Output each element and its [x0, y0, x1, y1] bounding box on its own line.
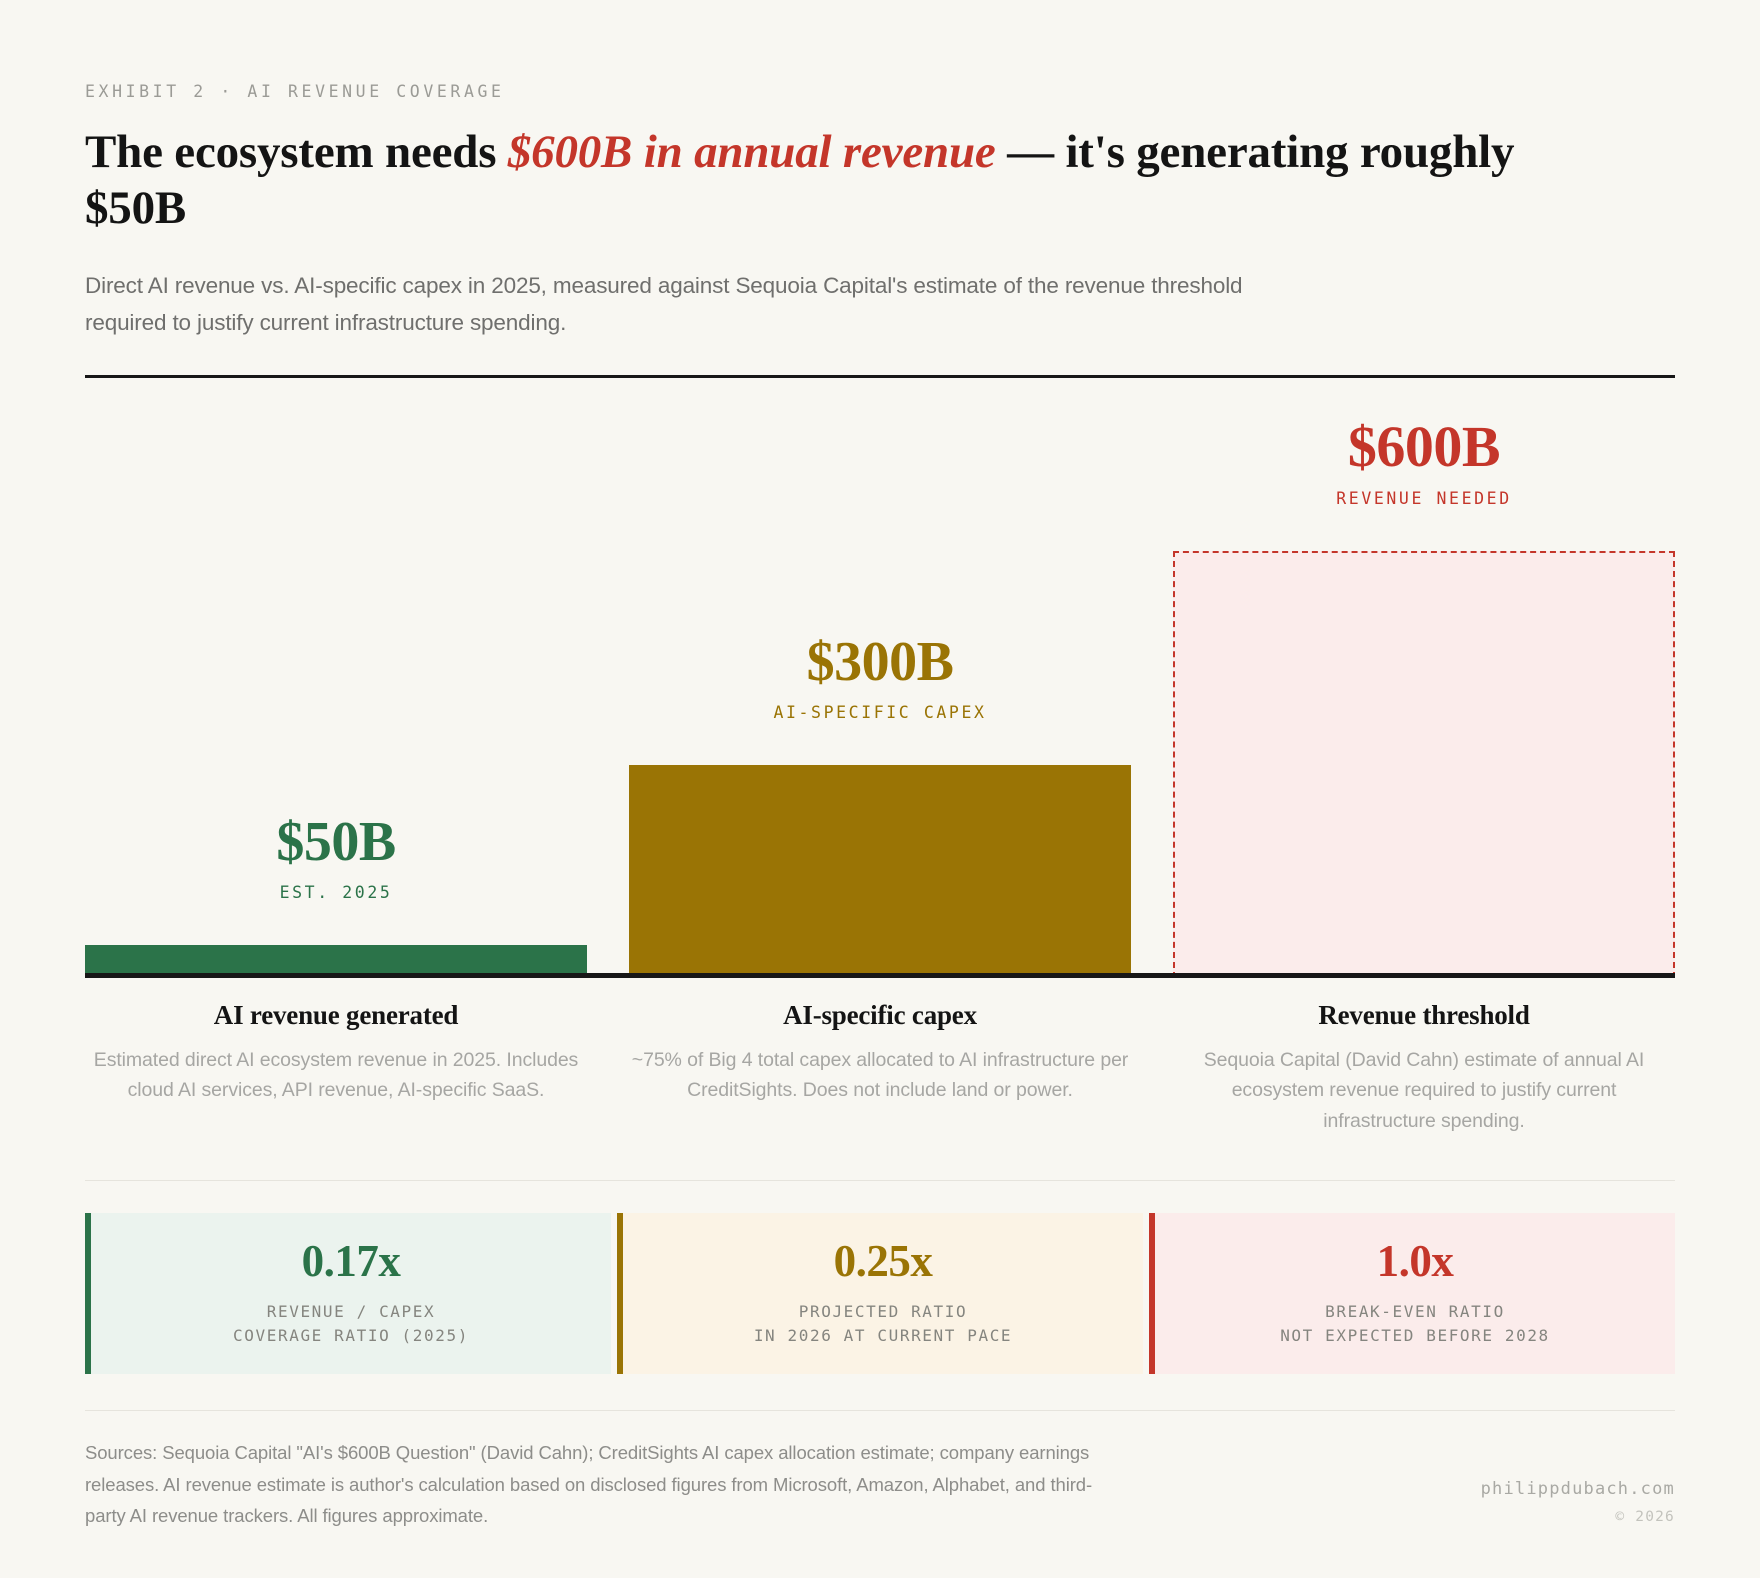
footer-divider [85, 1410, 1675, 1411]
bar-value-revenue: $50B [85, 814, 587, 870]
bar-rect-threshold [1173, 551, 1675, 978]
brand-block: philippdubach.com © 2026 [1481, 1437, 1675, 1525]
ratio-label-coverage: REVENUE / CAPEX COVERAGE RATIO (2025) [101, 1300, 601, 1348]
caption-title-revenue: AI revenue generated [85, 1000, 587, 1031]
bar-column-revenue: $50B EST. 2025 [85, 378, 587, 978]
exhibit-kicker: EXHIBIT 2 · AI REVENUE COVERAGE [85, 0, 1675, 101]
bar-value-threshold: $600B [1173, 418, 1675, 476]
page-subtitle: Direct AI revenue vs. AI-specific capex … [85, 268, 1255, 341]
bar-value-group-capex: $300B AI-SPECIFIC CAPEX [629, 634, 1131, 722]
bar-sublabel-capex: AI-SPECIFIC CAPEX [629, 703, 1131, 722]
bar-rect-capex [629, 765, 1131, 978]
bar-column-threshold: $600B REVENUE NEEDED [1173, 378, 1675, 978]
ratio-card-projected: 0.25x PROJECTED RATIO IN 2026 AT CURRENT… [617, 1213, 1143, 1374]
exhibit-page: EXHIBIT 2 · AI REVENUE COVERAGE The ecos… [0, 0, 1760, 1578]
copyright: © 2026 [1481, 1509, 1675, 1525]
bar-value-capex: $300B [629, 634, 1131, 690]
caption-threshold: Revenue threshold Sequoia Capital (David… [1173, 1000, 1675, 1136]
page-title: The ecosystem needs $600B in annual reve… [85, 125, 1615, 237]
ratio-label-breakeven: BREAK-EVEN RATIO NOT EXPECTED BEFORE 202… [1165, 1300, 1665, 1348]
bar-value-group-revenue: $50B EST. 2025 [85, 814, 587, 902]
caption-desc-threshold: Sequoia Capital (David Cahn) estimate of… [1173, 1045, 1675, 1136]
ratio-value-breakeven: 1.0x [1165, 1239, 1665, 1284]
chart-baseline [85, 973, 1675, 978]
bar-sublabel-threshold: REVENUE NEEDED [1173, 489, 1675, 508]
caption-title-threshold: Revenue threshold [1173, 1000, 1675, 1031]
caption-desc-revenue: Estimated direct AI ecosystem revenue in… [85, 1045, 587, 1105]
caption-desc-capex: ~75% of Big 4 total capex allocated to A… [629, 1045, 1131, 1105]
ratio-value-projected: 0.25x [633, 1239, 1133, 1284]
bar-columns: $50B EST. 2025 $300B AI-SPECIFIC CAPEX $… [85, 378, 1675, 978]
caption-revenue: AI revenue generated Estimated direct AI… [85, 1000, 587, 1136]
headline-accent: $600B in annual revenue [508, 126, 996, 178]
site-url[interactable]: philippdubach.com [1481, 1479, 1675, 1499]
ratio-value-coverage: 0.17x [101, 1239, 601, 1284]
footer: Sources: Sequoia Capital "AI's $600B Que… [85, 1437, 1675, 1532]
headline-part-one: The ecosystem needs [85, 126, 508, 178]
ratio-label-projected: PROJECTED RATIO IN 2026 AT CURRENT PACE [633, 1300, 1133, 1348]
bar-value-group-threshold: $600B REVENUE NEEDED [1173, 418, 1675, 508]
ratio-cards: 0.17x REVENUE / CAPEX COVERAGE RATIO (20… [85, 1213, 1675, 1374]
caption-capex: AI-specific capex ~75% of Big 4 total ca… [629, 1000, 1131, 1136]
caption-title-capex: AI-specific capex [629, 1000, 1131, 1031]
column-captions: AI revenue generated Estimated direct AI… [85, 1000, 1675, 1136]
ratio-card-coverage: 0.17x REVENUE / CAPEX COVERAGE RATIO (20… [85, 1213, 611, 1374]
captions-divider [85, 1180, 1675, 1181]
bar-chart: $50B EST. 2025 $300B AI-SPECIFIC CAPEX $… [85, 378, 1675, 978]
sources-note: Sources: Sequoia Capital "AI's $600B Que… [85, 1437, 1125, 1532]
ratio-card-breakeven: 1.0x BREAK-EVEN RATIO NOT EXPECTED BEFOR… [1149, 1213, 1675, 1374]
bar-column-capex: $300B AI-SPECIFIC CAPEX [629, 378, 1131, 978]
bar-sublabel-revenue: EST. 2025 [85, 883, 587, 902]
